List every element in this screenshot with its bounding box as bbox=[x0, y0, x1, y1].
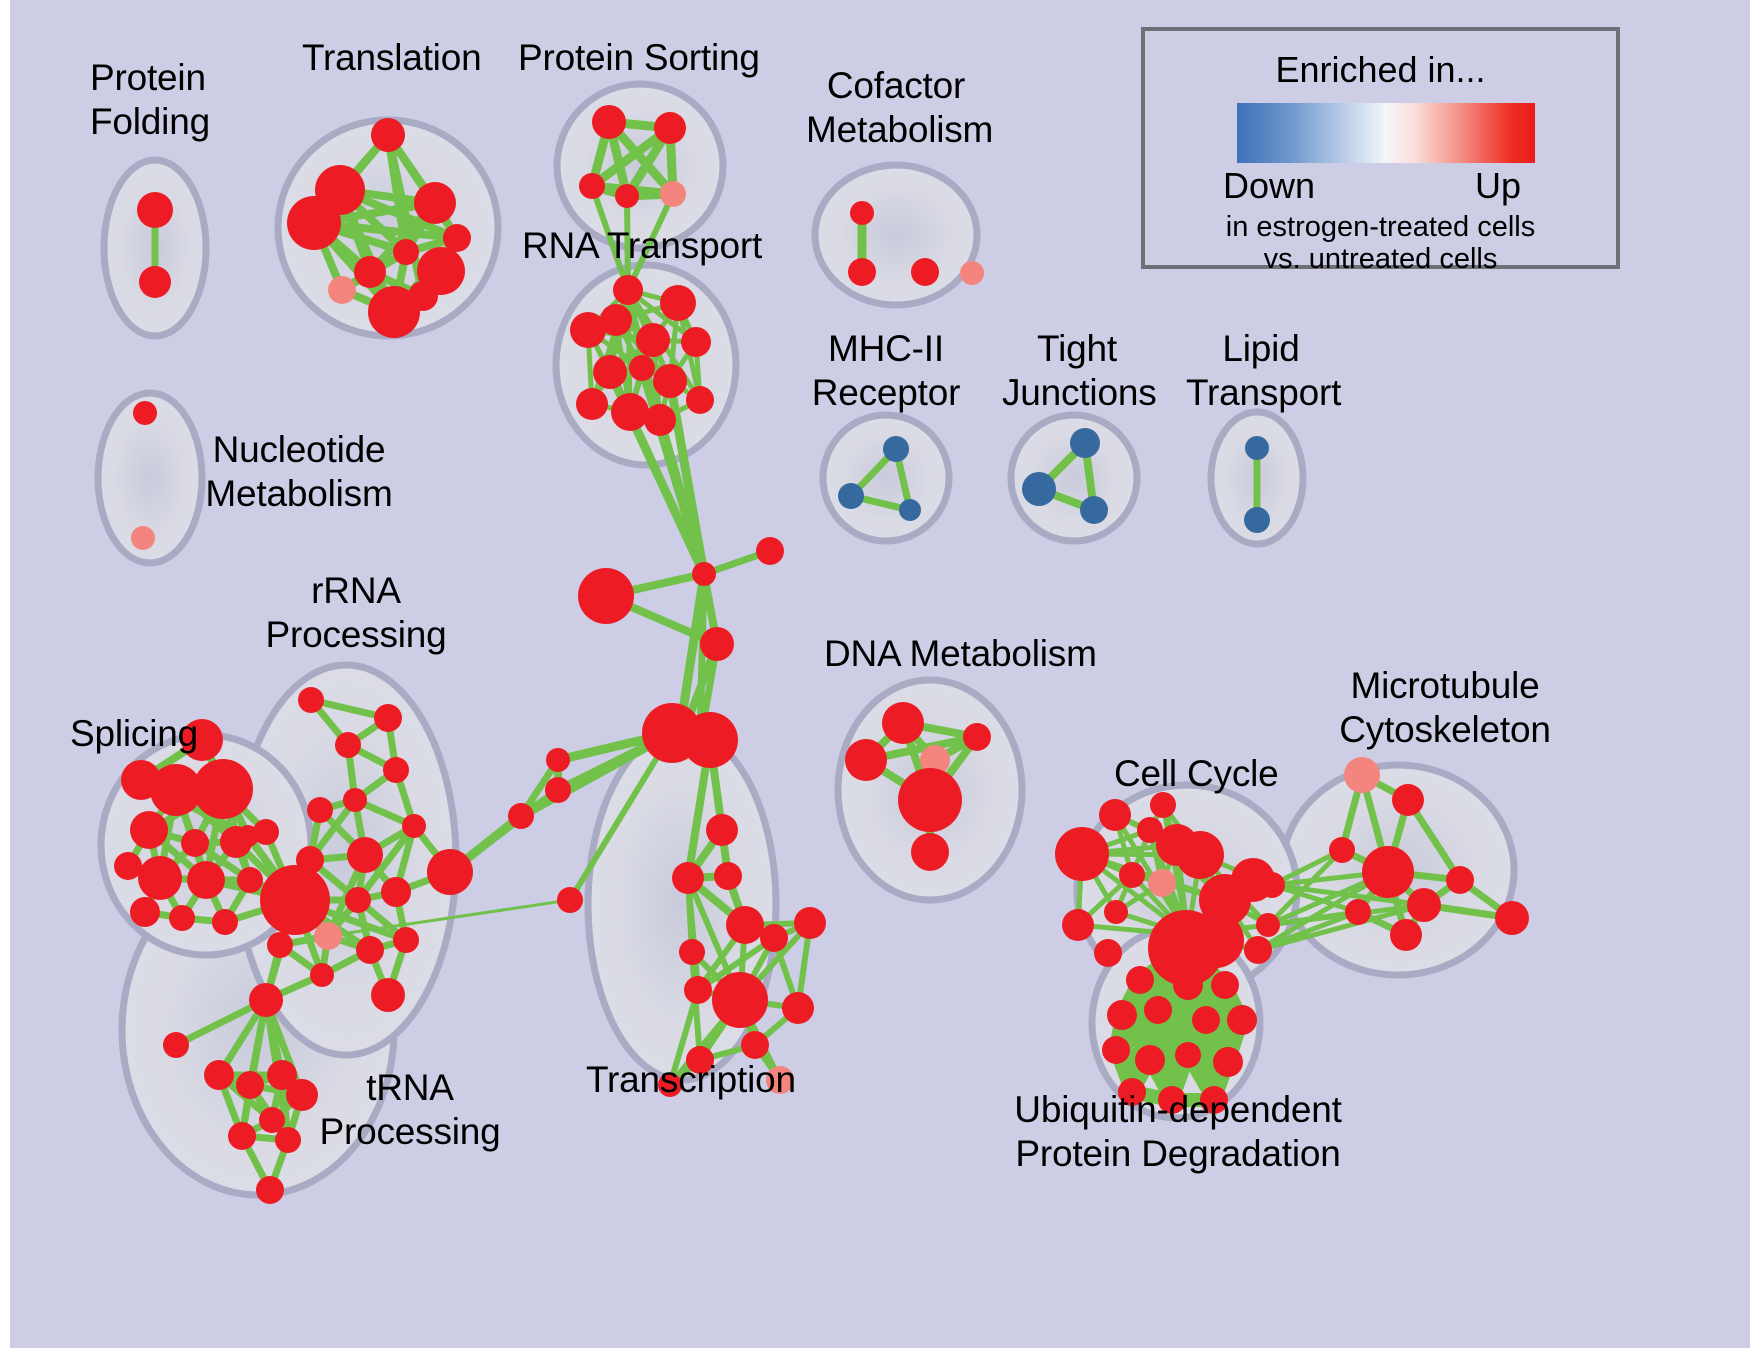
legend-up-label: Up bbox=[1475, 165, 1521, 207]
cluster-label-splicing: Splicing bbox=[70, 712, 198, 756]
cluster-label-microtubule-cytoskeleton: Microtubule Cytoskeleton bbox=[1310, 664, 1580, 752]
cluster-label-rrna-processing: rRNA Processing bbox=[256, 569, 456, 657]
cluster-label-rna-transport: RNA Transport bbox=[522, 224, 762, 268]
cluster-label-mhc-ii-receptor: MHC-II Receptor bbox=[806, 327, 966, 415]
figure-root: Protein Folding Translation Protein Sort… bbox=[0, 0, 1750, 1360]
legend-subtitle-2: vs. untreated cells bbox=[1145, 243, 1616, 276]
cluster-label-lipid-transport: Lipid Transport bbox=[1186, 327, 1336, 415]
legend-title: Enriched in... bbox=[1145, 49, 1616, 91]
cluster-label-translation: Translation bbox=[302, 36, 481, 80]
legend-color-bar bbox=[1237, 103, 1535, 163]
network-canvas: Protein Folding Translation Protein Sort… bbox=[10, 0, 1750, 1348]
cluster-label-transcription: Transcription bbox=[586, 1058, 796, 1102]
legend-down-label: Down bbox=[1223, 165, 1315, 207]
legend-panel: Enriched in... Down Up in estrogen-treat… bbox=[1141, 27, 1620, 269]
cluster-label-protein-folding: Protein Folding bbox=[90, 56, 210, 144]
cluster-label-protein-sorting: Protein Sorting bbox=[518, 36, 760, 80]
cluster-label-ubiquitin-protein-degradation: Ubiquitin-dependent Protein Degradation bbox=[998, 1088, 1358, 1176]
cluster-label-cell-cycle: Cell Cycle bbox=[1114, 752, 1279, 796]
blob-cofactor-metabolism bbox=[815, 165, 977, 305]
legend-subtitle-1: in estrogen-treated cells bbox=[1145, 211, 1616, 244]
cluster-label-tight-junctions: Tight Junctions bbox=[1002, 327, 1152, 415]
cluster-label-dna-metabolism: DNA Metabolism bbox=[824, 632, 1097, 676]
blob-mhc-ii-receptor bbox=[823, 415, 949, 541]
cluster-label-trna-processing: tRNA Processing bbox=[310, 1066, 510, 1154]
cluster-label-cofactor-metabolism: Cofactor Metabolism bbox=[806, 64, 986, 152]
cluster-label-nucleotide-metabolism: Nucleotide Metabolism bbox=[199, 428, 399, 516]
